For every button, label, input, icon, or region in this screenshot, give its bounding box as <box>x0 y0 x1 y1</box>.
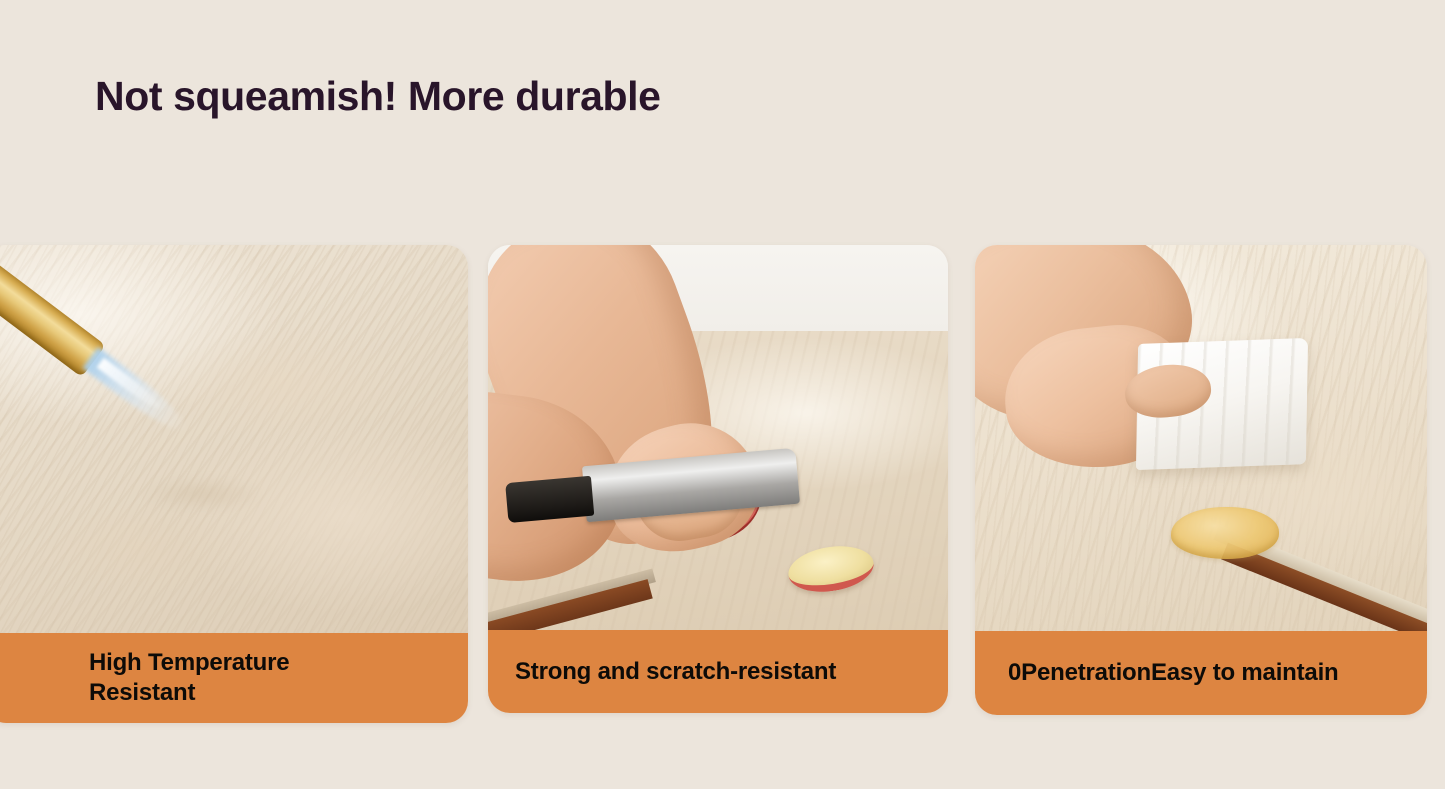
stone-countertop-surface <box>0 245 468 633</box>
panel-caption-band: 0PenetrationEasy to maintain <box>975 631 1427 715</box>
page-title: Not squeamish! More durable <box>95 74 661 119</box>
photo-wiping-spill <box>975 245 1427 631</box>
panel-caption-text: High Temperature Resistant <box>89 648 289 708</box>
feature-panel-row: High Temperature Resistant <box>0 245 1445 723</box>
feature-panel-strong-and-scratch-resistant[interactable]: Strong and scratch-resistant <box>488 245 948 713</box>
product-feature-banner: Not squeamish! More durable <box>0 0 1445 789</box>
panel-caption-text: Strong and scratch-resistant <box>515 657 836 687</box>
panel-caption-text: 0PenetrationEasy to maintain <box>1008 658 1339 688</box>
feature-panel-high-temperature-resistant[interactable]: High Temperature Resistant <box>0 245 468 723</box>
panel-caption-band: Strong and scratch-resistant <box>488 630 948 713</box>
panel-caption-band: High Temperature Resistant <box>0 633 468 723</box>
photo-knife-apple <box>488 245 948 630</box>
flame-heat-spot <box>142 477 262 511</box>
knife-handle <box>505 476 594 523</box>
photo-blowtorch-croissant <box>0 245 468 633</box>
feature-panel-zero-penetration-easy-to-maintain[interactable]: 0PenetrationEasy to maintain <box>975 245 1427 715</box>
liquid-spill <box>1171 507 1279 559</box>
